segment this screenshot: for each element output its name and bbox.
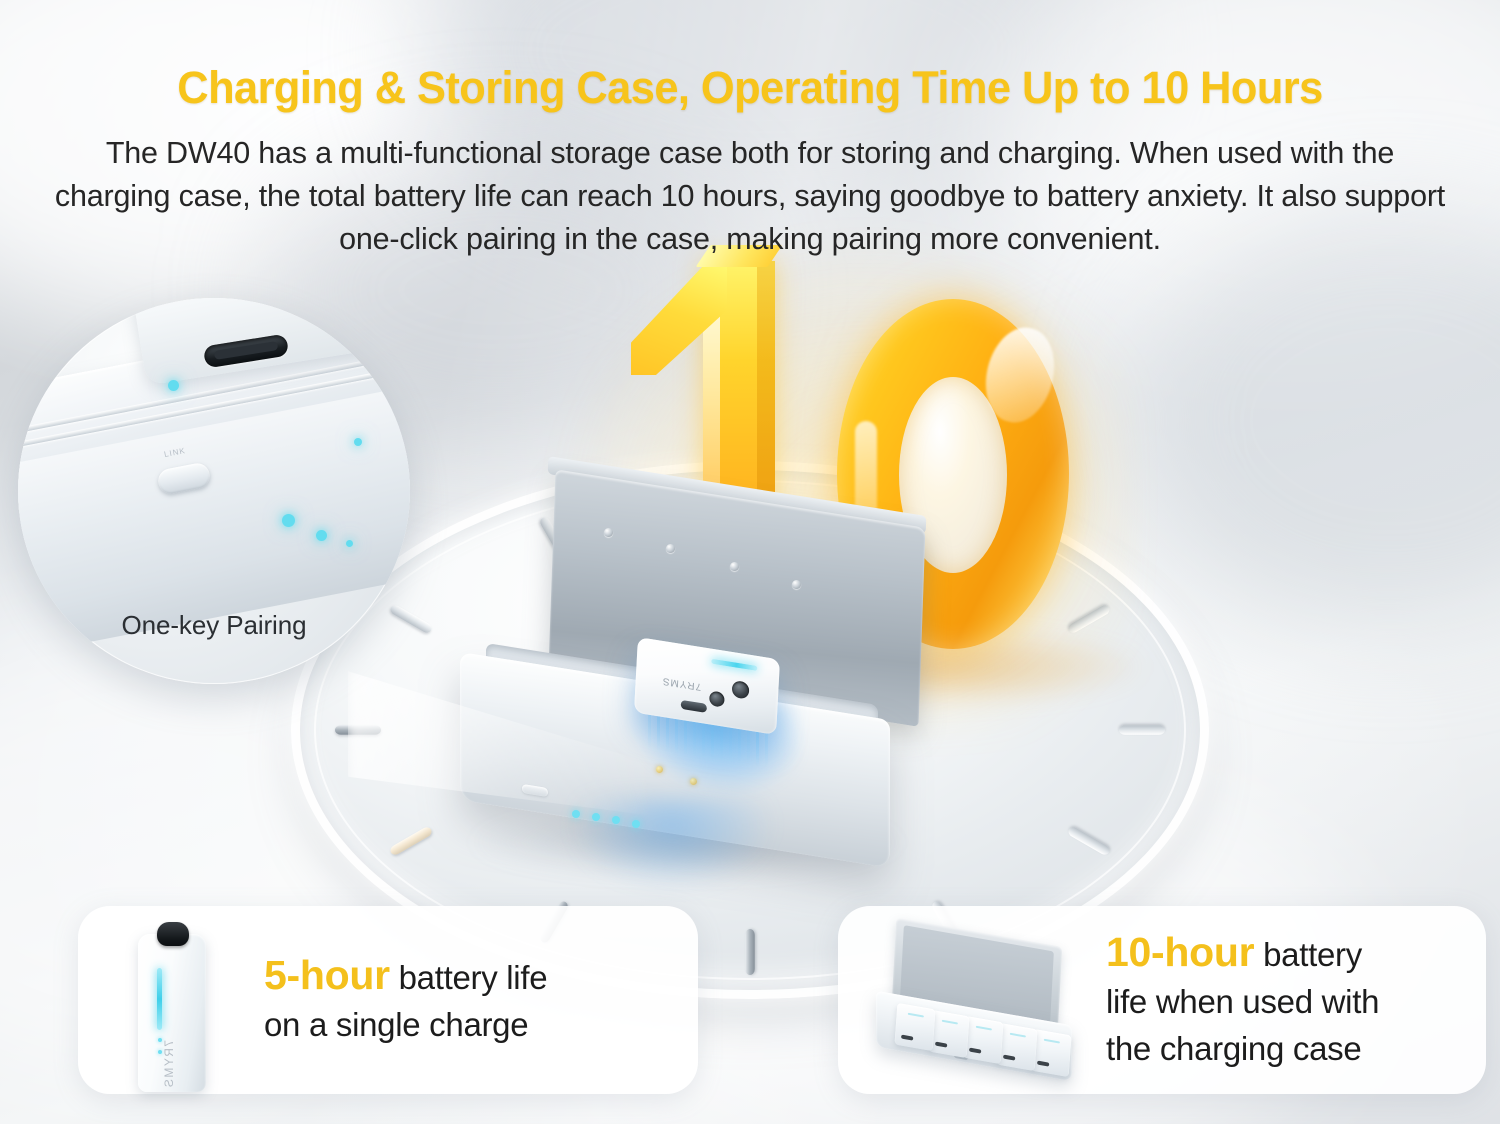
transmitter-led-strip — [157, 968, 162, 1030]
header: Charging & Storing Case, Operating Time … — [0, 0, 1500, 261]
feature-card-line1-rest: battery life — [390, 959, 548, 996]
feature-card-line1-rest: battery — [1254, 936, 1362, 973]
feature-card-single-charge: 7RYMS 5-hour battery life on a single ch… — [78, 906, 698, 1094]
receiver-brand-logo: 7RYMS — [662, 675, 702, 692]
feature-card-line2: on a single charge — [264, 1001, 547, 1048]
case-lid-screw — [604, 528, 613, 537]
transmitter-clip — [157, 922, 189, 946]
feature-card-highlight: 10-hour — [1106, 929, 1254, 975]
case-lid-screw — [792, 580, 801, 589]
mini-transmitter-led — [976, 1026, 992, 1031]
receiver-jack — [732, 680, 750, 700]
feature-card-with-case: 10-hour battery life when used with the … — [838, 906, 1486, 1094]
status-led — [316, 530, 327, 541]
page-description: The DW40 has a multi-functional storage … — [50, 132, 1450, 261]
transmitter-brand-logo: 7RYMS — [162, 1040, 176, 1089]
feature-card-highlight: 5-hour — [264, 952, 390, 998]
status-led — [346, 540, 353, 547]
mini-transmitter-led — [1044, 1039, 1060, 1044]
transmitter-illustration: 7RYMS — [138, 922, 206, 1094]
mini-transmitter-led — [942, 1019, 958, 1024]
receiver-led-strip — [711, 659, 757, 671]
mini-transmitter-port — [1003, 1054, 1015, 1060]
one-key-pairing-callout: LINK One-key Pairing — [18, 298, 410, 684]
receiver-usb-port — [681, 700, 707, 713]
mini-transmitter-port — [935, 1041, 947, 1047]
feature-card-line3: the charging case — [1106, 1025, 1379, 1072]
case-blue-spill — [572, 798, 772, 888]
feature-card-line1: 10-hour battery — [1106, 929, 1379, 978]
case-status-led — [632, 820, 640, 828]
mini-transmitter-port — [901, 1035, 913, 1041]
mini-transmitter-port — [969, 1048, 981, 1054]
feature-card-line1: 5-hour battery life — [264, 952, 547, 1001]
charging-case-illustration — [872, 930, 1082, 1080]
page-title: Charging & Storing Case, Operating Time … — [26, 62, 1474, 114]
case-lid-screw — [730, 562, 739, 571]
feature-card-text: 10-hour battery life when used with the … — [1106, 929, 1379, 1072]
feature-card-text: 5-hour battery life on a single charge — [264, 952, 547, 1048]
status-led — [354, 438, 362, 446]
case-status-led — [572, 810, 580, 818]
mini-transmitter-port — [1037, 1061, 1049, 1067]
feature-card-line2: life when used with — [1106, 978, 1379, 1025]
mini-transmitter-led — [908, 1013, 924, 1018]
charging-case: 7RYMS7RYMS7RYMS7RYMS 7RYMS — [452, 498, 952, 918]
pairing-led — [168, 380, 179, 391]
callout-label: One-key Pairing — [18, 610, 410, 641]
status-led — [282, 514, 295, 527]
mini-transmitter-unit — [895, 1003, 936, 1051]
case-lid-screw — [666, 544, 675, 553]
mini-transmitter-led — [1010, 1033, 1026, 1038]
clock-tick — [745, 929, 755, 975]
receiver-jack — [709, 690, 725, 707]
